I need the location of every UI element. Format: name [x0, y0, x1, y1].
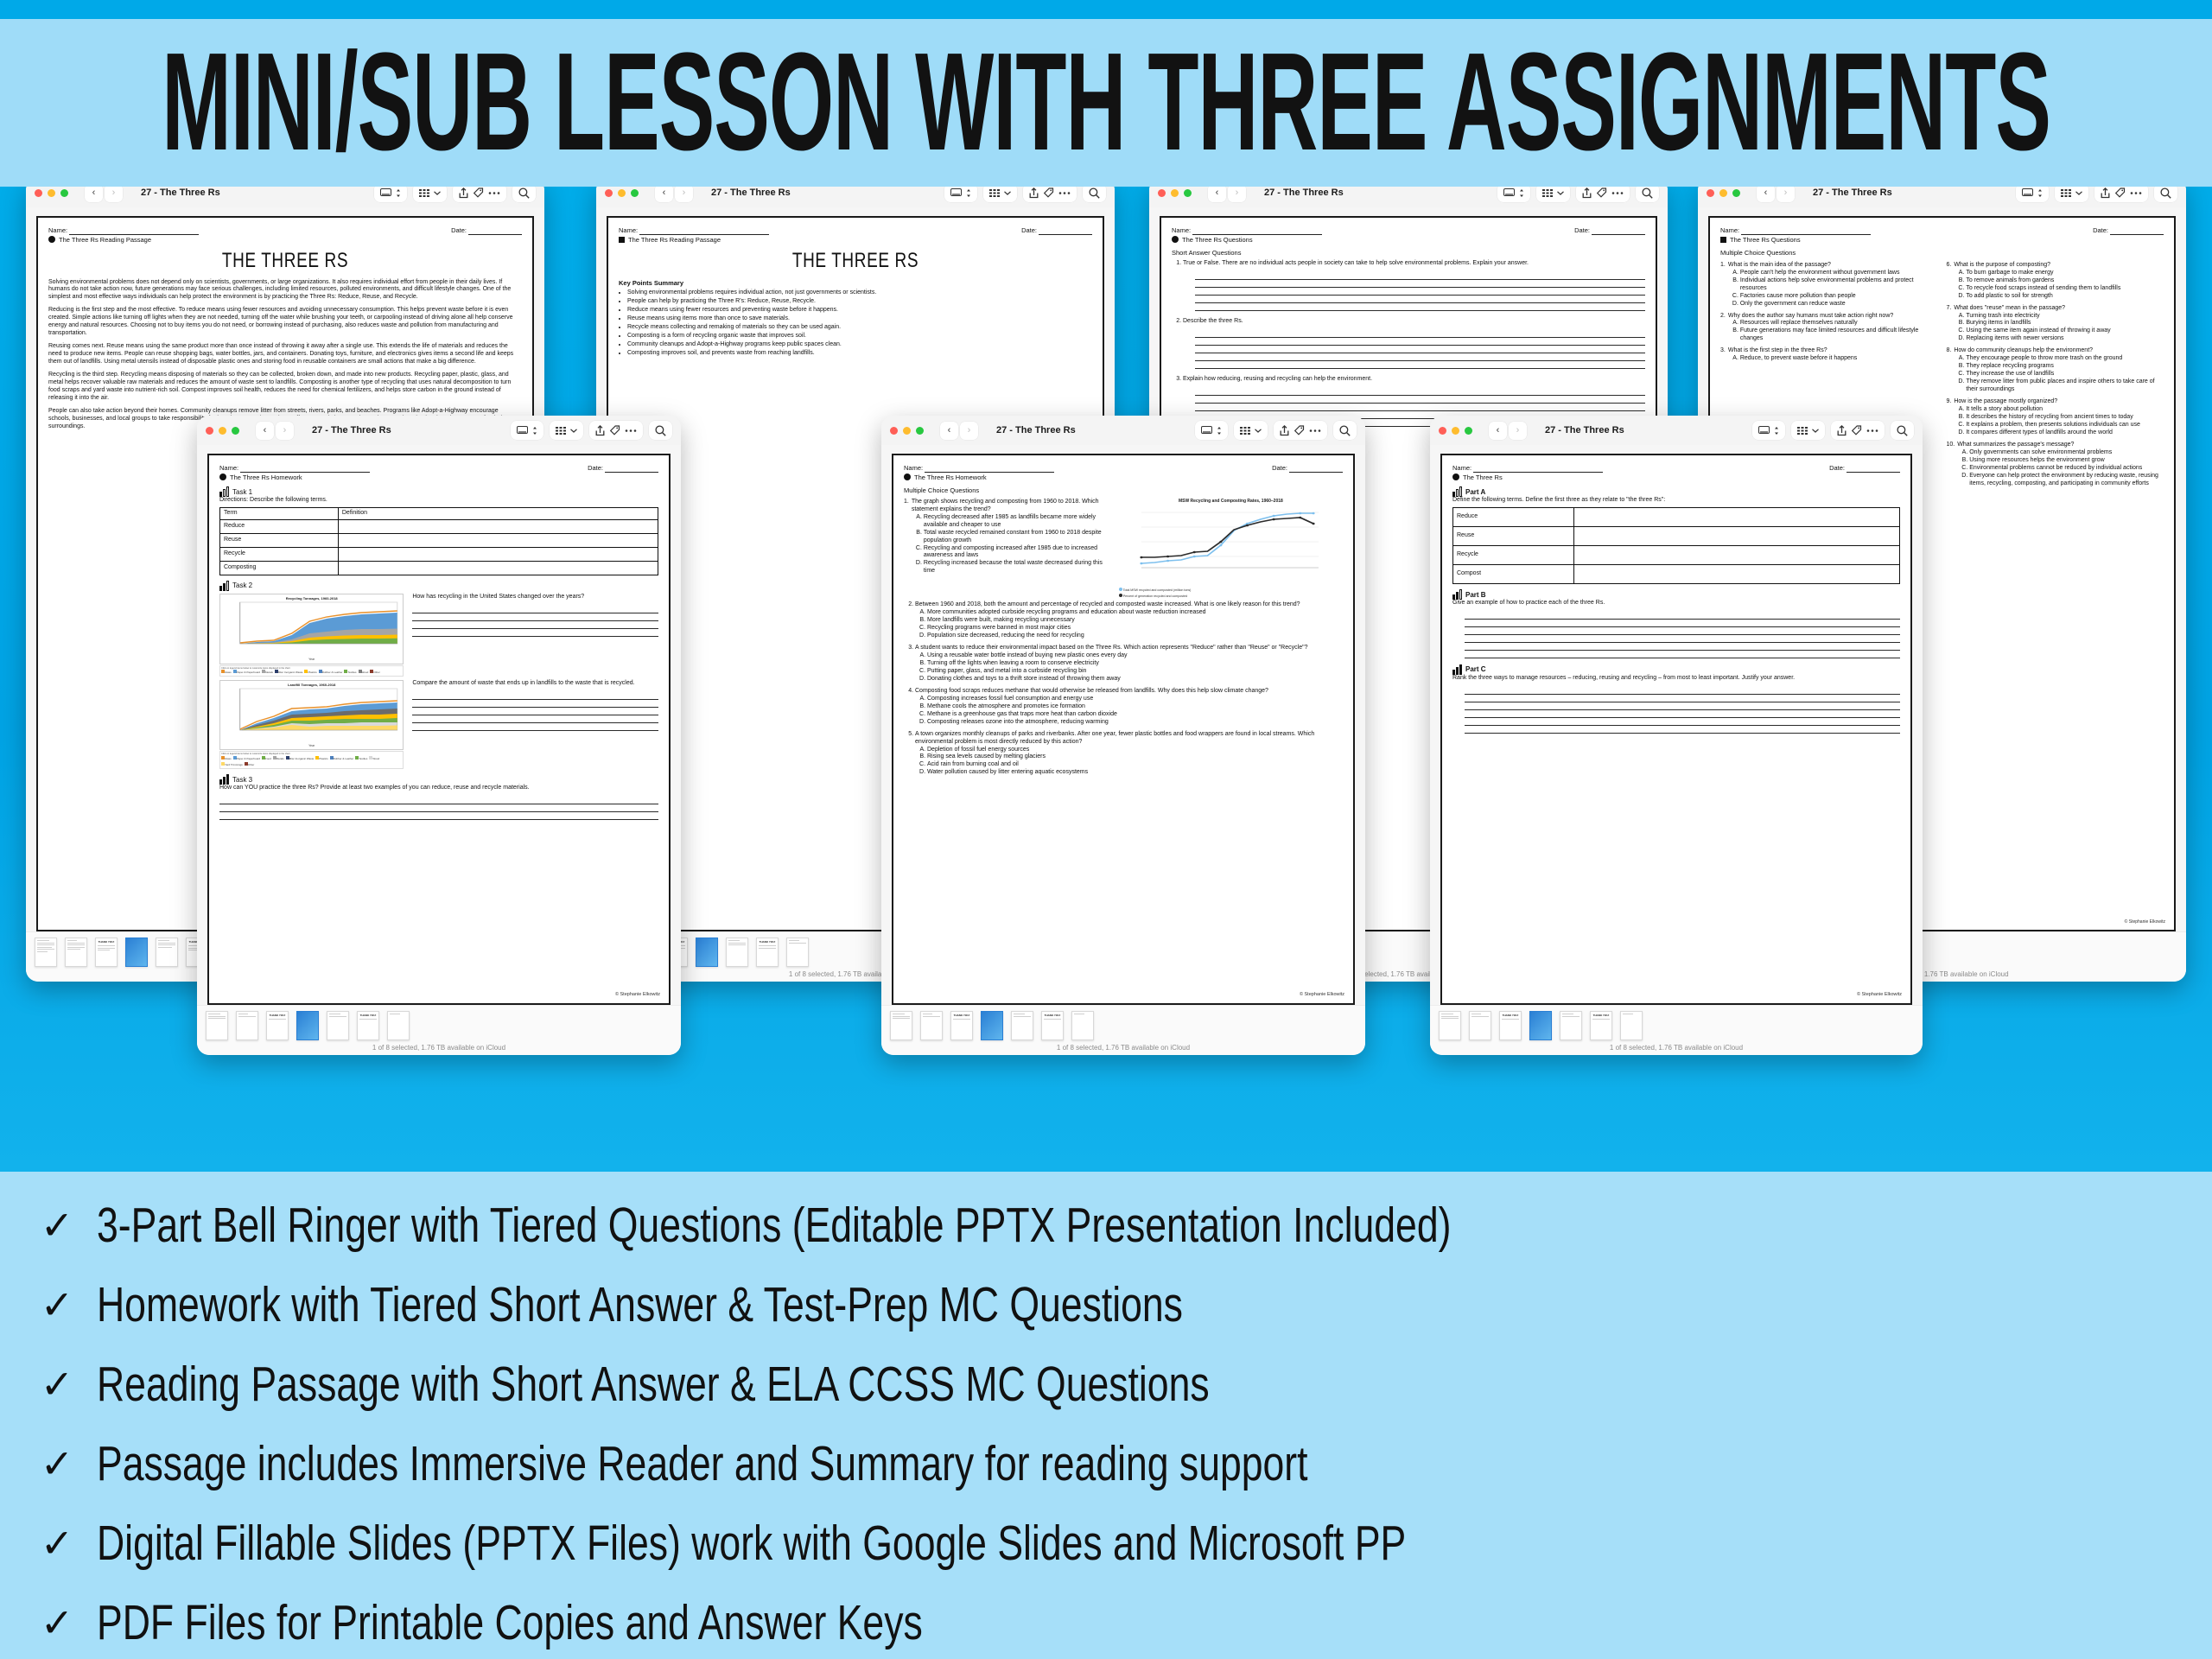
choice-list[interactable]: They encourage people to throw more tras… — [1966, 355, 2164, 394]
grid-view-group[interactable] — [1536, 187, 1570, 202]
thumbnail[interactable] — [890, 1011, 912, 1040]
minimize-icon[interactable] — [1719, 189, 1727, 197]
window-homework-tasks[interactable]: ‹ › 27 - The Three Rs — [197, 416, 681, 1055]
view-mode-group[interactable] — [1752, 421, 1785, 440]
thumbnail[interactable]: THANK YOU! — [756, 938, 779, 967]
thumbnail-strip[interactable]: THANK YOU! THANK YOU! — [1439, 1011, 1914, 1040]
search-icon[interactable] — [1897, 425, 1908, 436]
choice-item[interactable]: Reduce, to prevent waste before it happe… — [1740, 355, 1857, 363]
page-title: MINI/SUB LESSON WITH THREE ASSIGNMENTS — [162, 23, 2050, 182]
grid-view-icon[interactable] — [1542, 188, 1553, 198]
chart-legend-recycling[interactable]: Click on legend items below to customize… — [219, 665, 404, 677]
chevron-down-icon[interactable] — [2075, 191, 2082, 195]
minimize-icon[interactable] — [1452, 427, 1459, 435]
tag-icon[interactable] — [473, 188, 484, 199]
grid-view-group[interactable] — [550, 421, 583, 440]
maximize-icon[interactable] — [232, 427, 239, 435]
definition-cell[interactable] — [1573, 565, 1899, 584]
chevron-down-icon[interactable] — [1557, 191, 1564, 195]
close-icon[interactable] — [605, 189, 613, 197]
thumbnail[interactable] — [1620, 1011, 1643, 1040]
choice-item[interactable]: It compares different types of landfills… — [1966, 429, 2140, 437]
definition-cell[interactable] — [1573, 527, 1899, 546]
key-points-list: Solving environmental problems requires … — [627, 289, 1092, 358]
doc-bullet-icon — [1452, 474, 1459, 480]
thumbnail[interactable]: THANK YOU! — [266, 1011, 289, 1040]
view-mode-icon[interactable] — [1201, 426, 1212, 435]
thumbnail[interactable]: THANK YOU! — [1041, 1011, 1064, 1040]
more-icon[interactable] — [1058, 191, 1071, 195]
thumbnail[interactable] — [920, 1011, 943, 1040]
choice-item[interactable]: Burying items in landfills — [1966, 320, 2110, 327]
date-blank[interactable] — [1847, 466, 1900, 473]
name-blank[interactable] — [69, 228, 199, 235]
name-blank[interactable] — [1741, 228, 1871, 235]
grid-view-icon[interactable] — [1240, 426, 1250, 435]
check-icon: ✓ — [40, 1440, 74, 1487]
chevron-updown-icon[interactable] — [1519, 188, 1524, 198]
close-icon[interactable] — [206, 427, 213, 435]
name-blank[interactable] — [240, 466, 370, 473]
chevron-updown-icon[interactable] — [396, 188, 401, 198]
search-icon[interactable] — [655, 425, 666, 436]
grid-view-icon[interactable] — [419, 188, 429, 198]
choice-list[interactable]: Using a reusable water bottle instead of… — [927, 652, 1343, 683]
actions-group[interactable] — [1274, 421, 1327, 440]
grid-view-icon[interactable] — [556, 426, 566, 435]
choice-list[interactable]: Composting increases fossil fuel consump… — [927, 696, 1343, 727]
answer-lines[interactable] — [1195, 330, 1645, 369]
choice-item[interactable]: Turning off the lights when leaving a ro… — [927, 660, 1343, 668]
question-text: What is the purpose of composting? — [1954, 262, 2050, 268]
actions-group[interactable] — [589, 421, 643, 440]
thumbnail[interactable]: THANK YOU! — [95, 938, 118, 967]
task2-heading: Task 2 — [219, 582, 658, 591]
window-titlebar[interactable]: ‹ › 27 - The Three Rs — [1149, 187, 1668, 207]
definition-cell[interactable] — [338, 548, 658, 562]
tag-icon[interactable] — [1596, 188, 1607, 199]
more-icon[interactable] — [1611, 191, 1624, 195]
part-c-directions: Rank the three ways to manage resources … — [1452, 675, 1900, 683]
choice-item[interactable]: Acid rain from burning coal and oil — [927, 761, 1343, 769]
answer-lines[interactable] — [412, 692, 658, 731]
document-page: Name: Date: The Three Rs Part A Define t… — [1440, 454, 1912, 1005]
thumbnail[interactable] — [1529, 1011, 1552, 1040]
thumbnail[interactable] — [1011, 1011, 1033, 1040]
view-mode-group[interactable] — [944, 187, 977, 202]
choice-item[interactable]: Recycling programs were banned in most m… — [927, 625, 1343, 632]
choice-item[interactable]: Everyone can help protect the environmen… — [1969, 473, 2164, 488]
traffic-lights[interactable] — [35, 189, 68, 197]
view-mode-icon[interactable] — [517, 426, 528, 435]
choice-item[interactable]: To recycle food scraps instead of sendin… — [1966, 285, 2120, 293]
minimize-icon[interactable] — [219, 427, 226, 435]
list-item: People can help by practicing the Three … — [627, 298, 1092, 306]
thumbnail[interactable] — [387, 1011, 410, 1040]
share-icon[interactable] — [1029, 188, 1039, 199]
legend-label: Metals — [265, 671, 273, 674]
choice-item[interactable]: It tells a story about pollution — [1966, 406, 2140, 414]
definition-cell[interactable] — [338, 534, 658, 548]
window-titlebar[interactable]: ‹ › 27 - The Three Rs — [26, 187, 544, 207]
view-mode-group[interactable] — [2016, 187, 2049, 202]
definition-cell[interactable] — [1573, 546, 1899, 565]
question-text: What is the main idea of the passage? — [1728, 262, 1831, 268]
back-button[interactable]: ‹ — [1757, 187, 1775, 202]
search-group[interactable] — [1891, 421, 1914, 440]
thumbnail[interactable] — [125, 938, 148, 967]
grid-view-group[interactable] — [413, 187, 447, 202]
maximize-icon[interactable] — [631, 189, 639, 197]
section-label: Key Points Summary — [619, 279, 1092, 288]
tag-icon[interactable] — [609, 425, 620, 436]
close-icon[interactable] — [35, 189, 42, 197]
forward-button[interactable]: › — [1509, 422, 1527, 440]
chevron-updown-icon[interactable] — [532, 426, 537, 435]
chevron-updown-icon[interactable] — [2037, 188, 2043, 198]
chart-xlabel: Year — [222, 658, 401, 661]
choice-item[interactable]: Rising sea levels caused by melting glac… — [927, 753, 1343, 761]
thumbnail[interactable] — [156, 938, 178, 967]
search-group[interactable] — [1636, 187, 1659, 202]
date-blank[interactable] — [1039, 228, 1092, 235]
chevron-updown-icon[interactable] — [1774, 426, 1779, 435]
question-text: Composting food scraps reduces methane t… — [915, 688, 1268, 694]
choice-item[interactable]: Donating clothes and toys to a thrift st… — [927, 676, 1343, 683]
tag-icon[interactable] — [1851, 425, 1862, 436]
doc-bullet-icon — [48, 236, 55, 243]
choice-item[interactable]: Individual actions help solve environmen… — [1740, 277, 1938, 293]
name-blank[interactable] — [925, 466, 1054, 473]
choice-item[interactable]: Turning trash into electricity — [1966, 313, 2110, 321]
search-icon[interactable] — [1339, 425, 1351, 436]
question-text: What summarizes the passage's message? — [1957, 442, 2074, 448]
grid-view-icon[interactable] — [1797, 426, 1808, 435]
search-group[interactable] — [1083, 187, 1106, 202]
close-icon[interactable] — [890, 427, 898, 435]
window-titlebar[interactable]: ‹ › 27 - The Three Rs — [1698, 187, 2186, 207]
choice-item[interactable]: To add plastic to soil for strength — [1966, 293, 2120, 301]
task2-prompt-2: Compare the amount of waste that ends up… — [412, 680, 658, 770]
choice-list[interactable]: To burn garbage to make energy To remove… — [1966, 270, 2120, 301]
thumbnail[interactable] — [981, 1011, 1003, 1040]
traffic-lights[interactable] — [890, 427, 924, 435]
question-number: 6. — [1947, 262, 1952, 301]
choice-item[interactable]: More communities adopted curbside recycl… — [927, 609, 1343, 617]
grid-view-group[interactable] — [2055, 187, 2088, 202]
legend-label: Rubber & Leather — [334, 757, 354, 760]
maximize-icon[interactable] — [1465, 427, 1472, 435]
thumbnail[interactable] — [1560, 1011, 1582, 1040]
choice-list[interactable]: Only governments can solve environmental… — [1969, 449, 2164, 488]
grid-view-group[interactable] — [1234, 421, 1268, 440]
tag-icon[interactable] — [1294, 425, 1305, 436]
choice-item[interactable]: Using more resources helps the environme… — [1969, 457, 2164, 465]
date-blank[interactable] — [2110, 228, 2164, 235]
choice-list[interactable]: It tells a story about pollution It desc… — [1966, 406, 2140, 437]
view-mode-icon[interactable] — [950, 188, 962, 198]
date-blank[interactable] — [605, 466, 658, 473]
tag-icon[interactable] — [1043, 188, 1054, 199]
answer-lines[interactable] — [412, 606, 658, 637]
name-blank[interactable] — [1473, 466, 1603, 473]
more-icon[interactable] — [625, 429, 637, 433]
date-blank[interactable] — [1592, 228, 1645, 235]
thumbnail-strip[interactable]: THANK YOU! THANK YOU! — [890, 1011, 1357, 1040]
choice-list[interactable]: Resources will replace themselves natura… — [1740, 320, 1938, 343]
thumbnail[interactable] — [35, 938, 57, 967]
choice-item[interactable]: They replace recycling programs — [1966, 363, 2164, 371]
actions-group[interactable] — [2094, 187, 2148, 202]
back-button[interactable]: ‹ — [1489, 422, 1507, 440]
search-group[interactable] — [1333, 421, 1357, 440]
thumbnail[interactable]: THANK YOU! — [1590, 1011, 1612, 1040]
share-icon[interactable] — [459, 188, 468, 199]
thumbnail[interactable] — [1071, 1011, 1094, 1040]
traffic-lights[interactable] — [605, 189, 639, 197]
choice-item[interactable]: Population size decreased, reducing the … — [927, 632, 1343, 640]
choice-item[interactable]: Depletion of fossil fuel energy sources — [927, 747, 1343, 754]
actions-group[interactable] — [1023, 187, 1077, 202]
part-label: Part A — [1465, 488, 1485, 497]
more-icon[interactable] — [1866, 429, 1878, 433]
chart-legend-landfill[interactable]: Click on legend items below to customize… — [219, 751, 404, 769]
choice-item[interactable]: They increase the use of landfills — [1966, 371, 2164, 378]
thumbnail[interactable]: THANK YOU! — [1499, 1011, 1522, 1040]
search-icon[interactable] — [2160, 188, 2171, 199]
part-a-heading: Part A — [1452, 487, 1900, 497]
chevron-updown-icon[interactable] — [966, 188, 971, 198]
thumbnail[interactable] — [296, 1011, 319, 1040]
maximize-icon[interactable] — [916, 427, 924, 435]
choice-item[interactable]: Total waste recycled remained constant f… — [924, 530, 1110, 545]
choice-item[interactable]: They remove litter from public places an… — [1966, 378, 2164, 394]
doc-heading: THE THREE RS — [48, 249, 522, 275]
view-mode-group[interactable] — [1497, 187, 1530, 202]
name-blank[interactable] — [639, 228, 769, 235]
copyright-text: © Stephanie Elkowitz — [2125, 919, 2165, 925]
name-label: Name: — [1172, 226, 1191, 235]
choice-item[interactable]: Using the same item again instead of thr… — [1966, 327, 2110, 335]
search-group[interactable] — [2154, 187, 2177, 202]
actions-group[interactable] — [1831, 421, 1885, 440]
date-label: Date: — [2093, 226, 2108, 235]
actions-group[interactable] — [1576, 187, 1630, 202]
share-icon[interactable] — [1280, 425, 1289, 436]
mc-column-right: 6. What is the purpose of composting? To… — [1947, 262, 2164, 488]
traffic-lights[interactable] — [1439, 427, 1472, 435]
window-titlebar[interactable]: ‹ › 27 - The Three Rs — [1430, 416, 1923, 445]
traffic-lights[interactable] — [1707, 189, 1740, 197]
choice-item[interactable]: It describes the history of recycling fr… — [1966, 414, 2140, 422]
choice-item[interactable]: Putting paper, glass, and metal into a c… — [927, 668, 1343, 676]
minimize-icon[interactable] — [1171, 189, 1179, 197]
share-icon[interactable] — [595, 425, 605, 436]
back-button[interactable]: ‹ — [940, 422, 958, 440]
choice-item[interactable]: Only the government can reduce waste — [1740, 301, 1938, 308]
definition-cell[interactable] — [338, 562, 658, 575]
close-icon[interactable] — [1439, 427, 1446, 435]
doc-bullet-icon — [619, 237, 625, 243]
traffic-lights[interactable] — [206, 427, 239, 435]
term-cell: Composting — [220, 562, 339, 575]
view-mode-icon[interactable] — [1503, 188, 1515, 198]
thumbnail[interactable] — [696, 938, 718, 967]
chevron-down-icon[interactable] — [570, 429, 577, 433]
question-text: What does "reuse" mean in the passage? — [1954, 305, 2065, 311]
check-icon: ✓ — [40, 1599, 74, 1646]
view-mode-group[interactable] — [374, 187, 407, 202]
table-row: Reduce — [220, 520, 658, 534]
question-text: Describe the three Rs. — [1183, 318, 1243, 324]
share-icon[interactable] — [1582, 188, 1592, 199]
forward-button[interactable]: › — [105, 187, 123, 202]
choice-item[interactable]: Water pollution caused by litter enterin… — [927, 769, 1343, 777]
window-bell-ringer[interactable]: ‹ › 27 - The Three Rs — [1430, 416, 1923, 1055]
minimize-icon[interactable] — [48, 189, 55, 197]
choice-list[interactable]: More communities adopted curbside recycl… — [927, 609, 1343, 640]
window-homework-mc[interactable]: ‹ › 27 - The Three Rs — [881, 416, 1365, 1055]
grid-view-icon[interactable] — [989, 188, 1000, 198]
choice-item[interactable]: Methane is a greenhouse gas that traps m… — [927, 711, 1343, 719]
choice-item[interactable]: Recycling decreased after 1985 as landfi… — [924, 514, 1110, 530]
grid-view-group[interactable] — [1791, 421, 1825, 440]
view-mode-icon[interactable] — [2022, 188, 2033, 198]
choice-item[interactable]: Resources will replace themselves natura… — [1740, 320, 1938, 327]
choice-item[interactable]: Future generations may face limited reso… — [1740, 327, 1938, 343]
choice-item[interactable]: They encourage people to throw more tras… — [1966, 355, 2164, 363]
choice-item[interactable]: Composting releases ozone into the atmos… — [927, 719, 1343, 727]
thumbnail[interactable] — [65, 938, 87, 967]
back-button[interactable]: ‹ — [1208, 187, 1226, 202]
close-icon[interactable] — [1158, 189, 1166, 197]
forward-button[interactable]: › — [276, 422, 294, 440]
window-titlebar[interactable]: ‹ › 27 - The Three Rs — [881, 416, 1365, 445]
thumbnail[interactable] — [1469, 1011, 1491, 1040]
chevron-down-icon[interactable] — [1812, 429, 1819, 433]
close-icon[interactable] — [1707, 189, 1714, 197]
doc-heading: THE THREE RS — [619, 249, 1092, 275]
thumbnail[interactable] — [236, 1011, 258, 1040]
answer-lines[interactable] — [1465, 612, 1900, 658]
back-button[interactable]: ‹ — [655, 187, 673, 202]
view-mode-icon[interactable] — [380, 188, 391, 198]
thumbnail[interactable] — [786, 938, 809, 967]
forward-button[interactable]: › — [1777, 187, 1795, 202]
forward-button[interactable]: › — [675, 187, 693, 202]
choice-item[interactable]: It explains a problem, then presents sol… — [1966, 422, 2140, 429]
thumbnail[interactable] — [206, 1011, 228, 1040]
view-mode-group[interactable] — [511, 421, 543, 440]
window-title: 27 - The Three Rs — [1545, 425, 1624, 435]
answer-lines[interactable] — [1465, 687, 1900, 734]
choice-item[interactable]: People can't help the environment withou… — [1740, 270, 1938, 277]
choice-item[interactable]: Environmental problems cannot be reduced… — [1969, 465, 2164, 473]
date-blank[interactable] — [1289, 466, 1343, 473]
chevron-updown-icon[interactable] — [1217, 426, 1222, 435]
choice-item[interactable]: More landfills were built, making recycl… — [927, 617, 1343, 625]
grid-view-icon[interactable] — [2061, 188, 2071, 198]
choice-list[interactable]: Turning trash into electricity Burying i… — [1966, 313, 2110, 344]
search-icon[interactable] — [1089, 188, 1100, 199]
choice-item[interactable]: Recycling increased because the total wa… — [924, 560, 1110, 575]
chevron-down-icon[interactable] — [1255, 429, 1262, 433]
definition-cell[interactable] — [338, 520, 658, 534]
thumbnail[interactable]: THANK YOU! — [950, 1011, 973, 1040]
choice-item[interactable]: Only governments can solve environmental… — [1969, 449, 2164, 457]
share-icon[interactable] — [2101, 188, 2110, 199]
grid-view-group[interactable] — [983, 187, 1017, 202]
view-mode-group[interactable] — [1195, 421, 1228, 440]
choice-item[interactable]: To remove animals from gardens — [1966, 277, 2120, 285]
name-blank[interactable] — [1192, 228, 1322, 235]
answer-lines[interactable] — [219, 797, 658, 820]
thumbnail[interactable] — [1439, 1011, 1461, 1040]
date-blank[interactable] — [468, 228, 522, 235]
thumbnail[interactable]: THANK YOU! — [357, 1011, 379, 1040]
back-button[interactable]: ‹ — [85, 187, 103, 202]
question-text: Between 1960 and 2018, both the amount a… — [915, 601, 1300, 607]
window-titlebar[interactable]: ‹ › 27 - The Three Rs — [596, 187, 1115, 207]
search-group[interactable] — [512, 187, 536, 202]
window-titlebar[interactable]: ‹ › 27 - The Three Rs — [197, 416, 681, 445]
chevron-down-icon[interactable] — [434, 191, 441, 195]
maximize-icon[interactable] — [60, 189, 68, 197]
choice-item[interactable]: Methane cools the atmosphere and promote… — [927, 703, 1343, 711]
search-icon[interactable] — [1642, 188, 1653, 199]
share-icon[interactable] — [1837, 425, 1847, 436]
chevron-down-icon[interactable] — [1004, 191, 1011, 195]
choice-list[interactable]: Recycling decreased after 1985 as landfi… — [924, 514, 1110, 576]
choice-list[interactable]: People can't help the environment withou… — [1740, 270, 1938, 308]
more-icon[interactable] — [488, 191, 500, 195]
thumbnail[interactable] — [327, 1011, 349, 1040]
choice-item[interactable]: Recycling and composting increased after… — [924, 545, 1110, 561]
view-mode-icon[interactable] — [1758, 426, 1770, 435]
more-icon[interactable] — [1309, 429, 1321, 433]
choice-item[interactable]: Using a reusable water bottle instead of… — [927, 652, 1343, 660]
back-button[interactable]: ‹ — [256, 422, 274, 440]
definition-cell[interactable] — [1573, 508, 1899, 527]
actions-group[interactable] — [453, 187, 506, 202]
traffic-lights[interactable] — [1158, 189, 1192, 197]
choice-item[interactable]: To burn garbage to make energy — [1966, 270, 2120, 277]
forward-button[interactable]: › — [1228, 187, 1246, 202]
chart-legend-msw[interactable]: Total MSW recycled and composted (millio… — [1119, 588, 1343, 598]
minimize-icon[interactable] — [618, 189, 626, 197]
question-text: What is the first step in the three Rs? — [1728, 347, 1827, 353]
choice-list[interactable]: Depletion of fossil fuel energy sources … — [927, 747, 1343, 778]
legend-label: Other — [248, 763, 255, 766]
thumbnail[interactable] — [726, 938, 748, 967]
search-icon[interactable] — [518, 188, 530, 199]
date-label: Date: — [588, 464, 603, 473]
maximize-icon[interactable] — [1184, 189, 1192, 197]
forward-button[interactable]: › — [960, 422, 978, 440]
maximize-icon[interactable] — [1732, 189, 1740, 197]
copyright-text: © Stephanie Elkowitz — [615, 992, 660, 998]
choice-list[interactable]: Reduce, to prevent waste before it happe… — [1740, 355, 1857, 363]
more-icon[interactable] — [2130, 191, 2142, 195]
search-group[interactable] — [649, 421, 672, 440]
choice-item[interactable]: Replacing items with newer versions — [1966, 335, 2110, 343]
answer-lines[interactable] — [1195, 272, 1645, 311]
choice-item[interactable]: Composting increases fossil fuel consump… — [927, 696, 1343, 703]
thumbnail-strip[interactable]: THANK YOU! THANK YOU! — [206, 1011, 672, 1040]
tag-icon[interactable] — [2114, 188, 2126, 199]
minimize-icon[interactable] — [903, 427, 911, 435]
choice-item[interactable]: Factories cause more pollution than peop… — [1740, 293, 1938, 301]
